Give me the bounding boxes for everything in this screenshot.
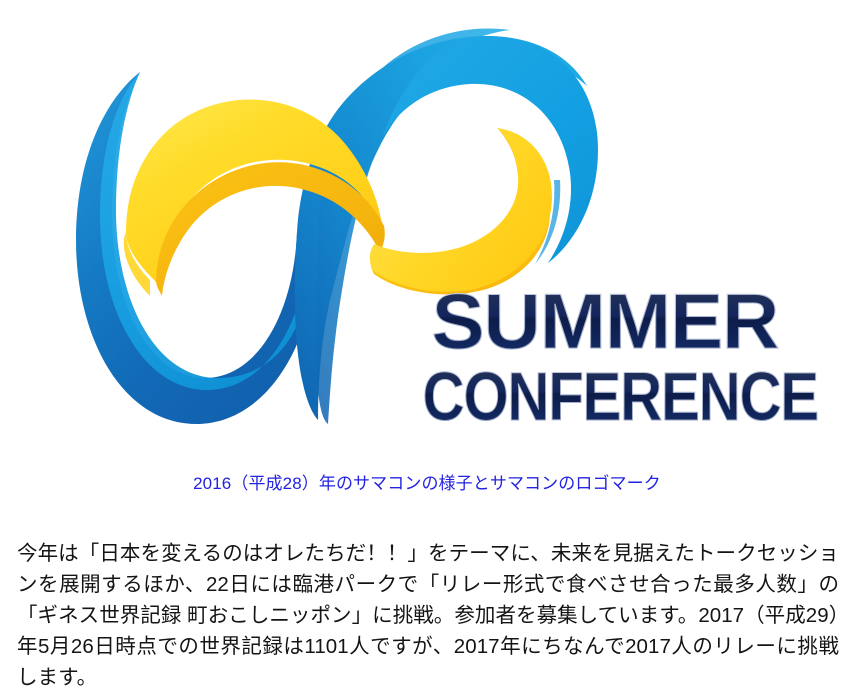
body-paragraph: 今年は「日本を変えるのはオレたちだ！！」をテーマに、未来を見据えたトークセッショ… bbox=[17, 538, 839, 693]
wordmark-conference: CONFERENCE bbox=[423, 357, 818, 435]
logo-wordmark-group: SUMMER CONFERENCE bbox=[423, 278, 818, 435]
article-container: SUMMER CONFERENCE 2016（平成28）年のサマコンの様子とサマ… bbox=[0, 0, 854, 700]
figure-caption: 2016（平成28）年のサマコンの様子とサマコンのロゴマーク bbox=[0, 473, 854, 495]
logo-figure: SUMMER CONFERENCE 2016（平成28）年のサマコンの様子とサマ… bbox=[0, 0, 854, 450]
logo-image: SUMMER CONFERENCE bbox=[0, 0, 854, 450]
wordmark-summer: SUMMER bbox=[432, 278, 779, 365]
summer-conference-logo-icon: SUMMER CONFERENCE bbox=[0, 0, 854, 450]
